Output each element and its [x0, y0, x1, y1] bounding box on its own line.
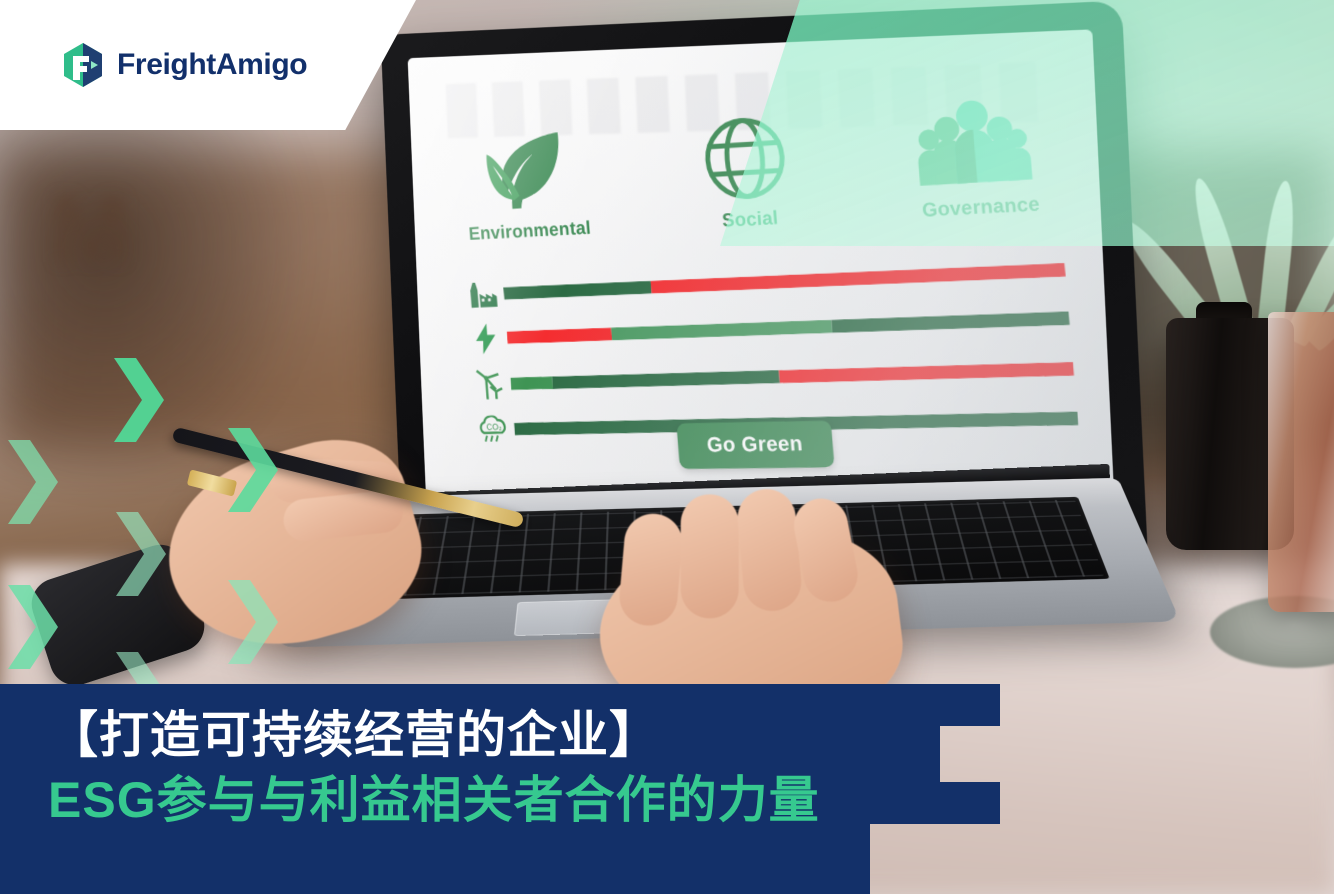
go-green-button[interactable]: Go Green [676, 420, 834, 469]
chevron-decoration-group [0, 330, 300, 700]
logo-banner: FreightAmigo [0, 0, 416, 130]
leaf-icon [475, 127, 576, 216]
drinking-glass [1268, 312, 1334, 612]
chevron-right-icon [108, 358, 164, 442]
esg-pillar-environmental[interactable]: Environmental [461, 126, 592, 245]
bar-track [510, 362, 1074, 390]
finger [681, 494, 739, 618]
chevron-right-icon [2, 440, 58, 524]
brand-name: FreightAmigo [117, 48, 307, 82]
headline-line-2: ESG参与与利益相关者合作的力量 [48, 771, 968, 830]
bar-track [503, 263, 1065, 300]
chevron-right-icon [110, 512, 166, 596]
esg-label-environmental: Environmental [468, 218, 592, 246]
background-blur-letter: M [50, 175, 290, 285]
bar-row-factory[interactable] [460, 254, 1067, 309]
finger [617, 511, 685, 628]
chevron-right-icon [2, 585, 58, 669]
chevron-right-icon [222, 580, 278, 664]
bar-track [507, 312, 1070, 344]
mint-overlay-tint [720, 0, 1334, 246]
headline-text-block: 【打造可持续经营的企业】 ESG参与与利益相关者合作的力量 [48, 706, 968, 830]
bar-row-energy[interactable] [463, 302, 1070, 355]
poster-canvas: M [0, 0, 1334, 894]
factory-icon [460, 279, 505, 309]
wind-turbine-icon [467, 368, 512, 402]
chevron-right-icon [222, 428, 278, 512]
headline-line-1: 【打造可持续经营的企业】 [48, 706, 968, 765]
hexagon-f-logo-icon [62, 42, 104, 88]
lightning-bolt-icon [463, 322, 508, 354]
bar-row-renewable[interactable] [467, 351, 1075, 401]
brand-logo[interactable]: FreightAmigo [62, 42, 307, 88]
